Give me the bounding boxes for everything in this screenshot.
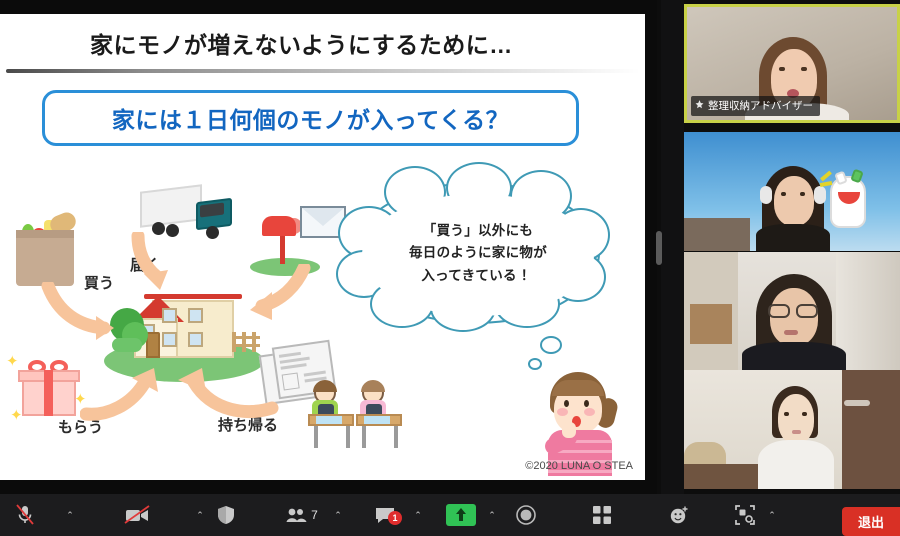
apps-button[interactable] [585, 494, 619, 536]
share-screen-button[interactable] [440, 494, 482, 536]
headset-icon [814, 186, 826, 204]
video-button[interactable] [118, 494, 156, 536]
chevron-up-icon: ⌃ [66, 510, 74, 521]
participant-name-text: 整理収納アドバイザー [708, 98, 813, 113]
school-desks-illustration [308, 374, 412, 452]
share-screen-icon [454, 507, 468, 523]
reactions-button[interactable] [662, 494, 696, 536]
participants-options-caret[interactable]: ⌃ [328, 494, 348, 536]
reactions-smiley-icon [669, 505, 689, 525]
thought-bubble-tail-large [540, 336, 562, 354]
eyeglasses-icon [768, 304, 790, 318]
arrow-mail-to-house [238, 264, 314, 326]
participants-count: 7 [311, 508, 318, 522]
eyeglasses-icon [796, 304, 818, 318]
slide-question-text: 家には１日何個のモノが入ってくる？ [112, 101, 509, 135]
video-tile-4[interactable] [684, 370, 900, 489]
slide-title-bar: 家にモノが増えないようにするために… [0, 14, 645, 68]
video-tile-2[interactable] [684, 132, 900, 251]
zoom-meeting-window: 家にモノが増えないようにするために… 家には１日何個のモノが入ってくる？ 買う [0, 0, 900, 536]
breakout-rooms-button[interactable] [728, 494, 762, 536]
arrow-buy-to-house [40, 282, 120, 352]
meeting-toolbar: ⌃ ⌃ 7 [0, 494, 900, 536]
breakout-rooms-icon [735, 505, 755, 525]
record-button[interactable] [508, 494, 544, 536]
headset-icon [760, 186, 772, 204]
video-thumbnail-strip: 整理収納アドバイザー [684, 0, 900, 494]
record-icon [516, 505, 536, 525]
participant-name-badge: 整理収納アドバイザー [691, 96, 820, 116]
thought-bubble-text: 「買う」以外にも毎日のように家に物が入ってきている ！ [354, 220, 602, 287]
participants-icon [286, 507, 308, 523]
grocery-bag-illustration [16, 214, 78, 286]
divider-drag-handle[interactable] [656, 231, 662, 265]
slide-title: 家にモノが増えないようにするために… [90, 26, 513, 60]
arrow-truck-to-house [128, 232, 188, 298]
presentation-slide: 家にモノが増えないようにするために… 家には１日何個のモノが入ってくる？ 買う [0, 14, 645, 480]
video-tile-active-speaker[interactable]: 整理収納アドバイザー [684, 4, 900, 123]
share-options-caret[interactable]: ⌃ [482, 494, 502, 536]
chat-unread-badge: 1 [388, 511, 402, 525]
video-off-icon [124, 505, 150, 525]
title-divider-rule [6, 69, 640, 73]
slide-copyright: ©2020 LUNA O STEA [525, 460, 633, 472]
apps-grid-icon [593, 506, 611, 524]
participants-button[interactable]: 7 [276, 494, 328, 536]
sparkle-icon: ✦ [6, 352, 19, 370]
chevron-up-icon: ⌃ [768, 510, 776, 521]
thought-bubble-tail-small [528, 358, 542, 370]
security-button[interactable] [196, 494, 256, 536]
chat-button[interactable]: 1 [368, 494, 402, 536]
shield-icon [217, 505, 235, 525]
thought-bubble: 「買う」以外にも毎日のように家に物が入ってきている ！ [352, 182, 600, 324]
mute-button[interactable] [8, 494, 42, 536]
slide-question-box: 家には１日何個のモノが入ってくる？ [42, 90, 579, 146]
mute-options-caret[interactable]: ⌃ [60, 494, 80, 536]
pin-icon [695, 100, 704, 111]
share-screen-green-button[interactable] [446, 504, 476, 526]
shared-screen-area[interactable]: 家にモノが増えないようにするために… 家には１日何個のモノが入ってくる？ 買う [0, 0, 660, 494]
chevron-up-icon: ⌃ [414, 510, 422, 521]
video-tile-3[interactable] [684, 252, 900, 371]
breakout-options-caret[interactable]: ⌃ [762, 494, 782, 536]
arrow-newspaper-to-house [168, 364, 280, 424]
microphone-muted-icon [15, 504, 35, 526]
leave-meeting-button[interactable]: 退出 [842, 507, 900, 536]
door-handle-icon [844, 400, 870, 406]
chevron-up-icon: ⌃ [334, 510, 342, 521]
chevron-up-icon: ⌃ [488, 510, 496, 521]
gift-box-illustration [18, 360, 80, 416]
arrow-gift-to-house [80, 366, 166, 426]
chat-options-caret[interactable]: ⌃ [408, 494, 428, 536]
sparkle-icon: ✦ [10, 406, 23, 424]
